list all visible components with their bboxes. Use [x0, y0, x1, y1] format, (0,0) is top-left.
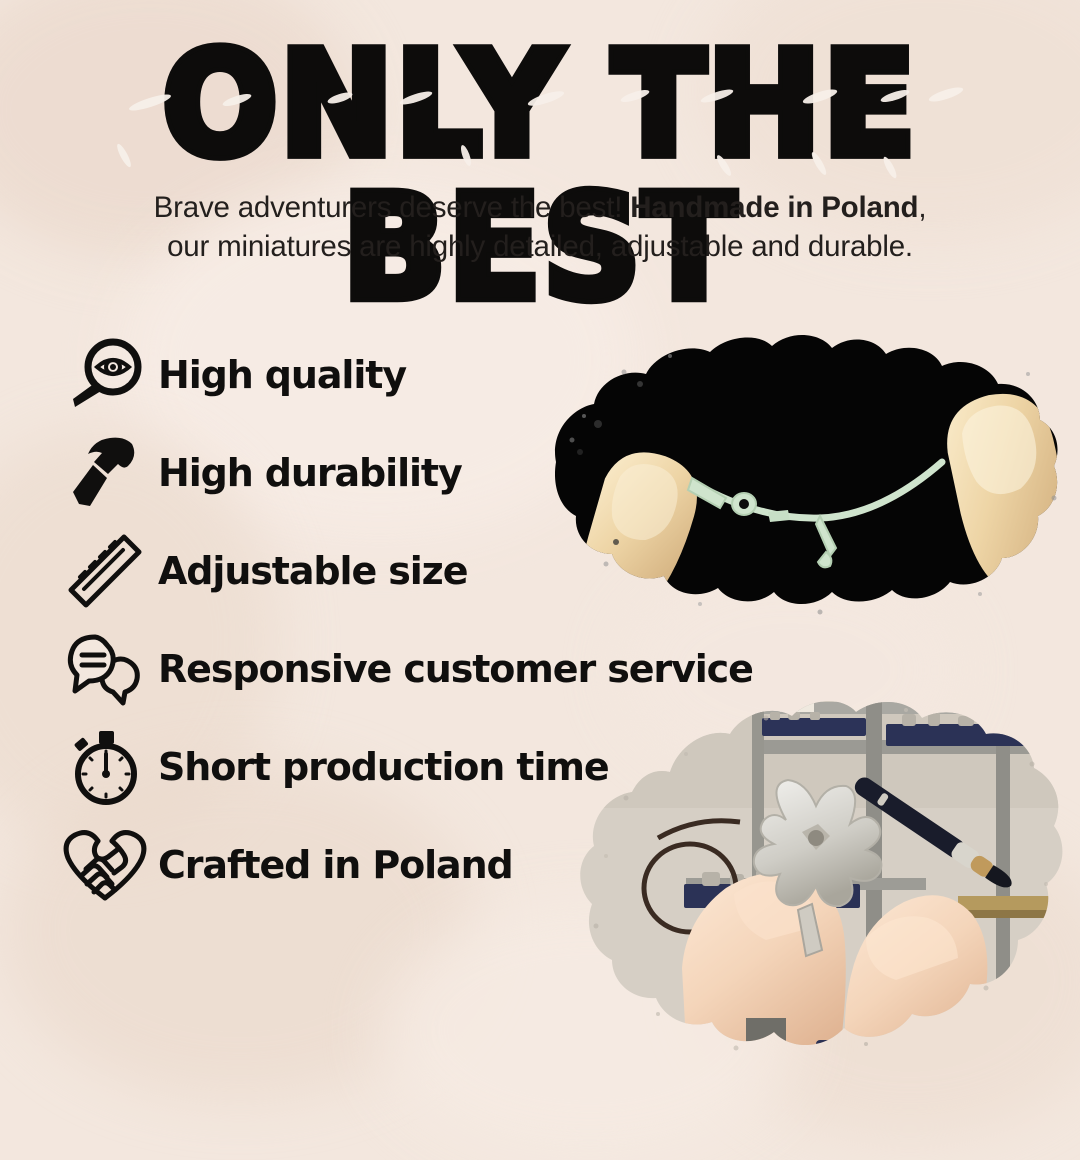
feature-item-responsive-customer-service: Responsive customer service	[62, 620, 782, 718]
subtitle-plain-text: Brave adventurers deserve the best!	[154, 191, 631, 224]
feature-item-high-quality: High quality	[62, 326, 782, 424]
feature-label: Crafted in Poland	[158, 843, 513, 887]
subtitle-comma: ,	[918, 191, 926, 224]
feature-item-high-durability: High durability	[62, 424, 782, 522]
heart-handshake-icon	[62, 826, 148, 904]
feature-label: Short production time	[158, 745, 609, 789]
feature-item-short-production-time: Short production time	[62, 718, 782, 816]
subtitle-block: Brave adventurers deserve the best! Hand…	[0, 188, 1080, 266]
stopwatch-icon	[62, 728, 148, 806]
subtitle-line-1: Brave adventurers deserve the best! Hand…	[0, 188, 1080, 227]
feature-label: Adjustable size	[158, 549, 467, 593]
page-title: ONLY THE BEST	[0, 34, 1080, 321]
feature-list: High quality High durability	[62, 326, 782, 914]
magnifier-eye-icon	[62, 336, 148, 414]
chat-bubbles-icon	[62, 630, 148, 708]
feature-item-adjustable-size: Adjustable size	[62, 522, 782, 620]
ruler-icon	[62, 532, 148, 610]
subtitle-line-2: our miniatures are highly detailed, adju…	[0, 227, 1080, 266]
subtitle-bold-text: Handmade in Poland	[630, 191, 918, 224]
feature-item-crafted-in-poland: Crafted in Poland	[62, 816, 782, 914]
hammer-icon	[62, 434, 148, 512]
feature-label: High durability	[158, 451, 462, 495]
feature-label: Responsive customer service	[158, 647, 753, 691]
feature-label: High quality	[158, 353, 406, 397]
